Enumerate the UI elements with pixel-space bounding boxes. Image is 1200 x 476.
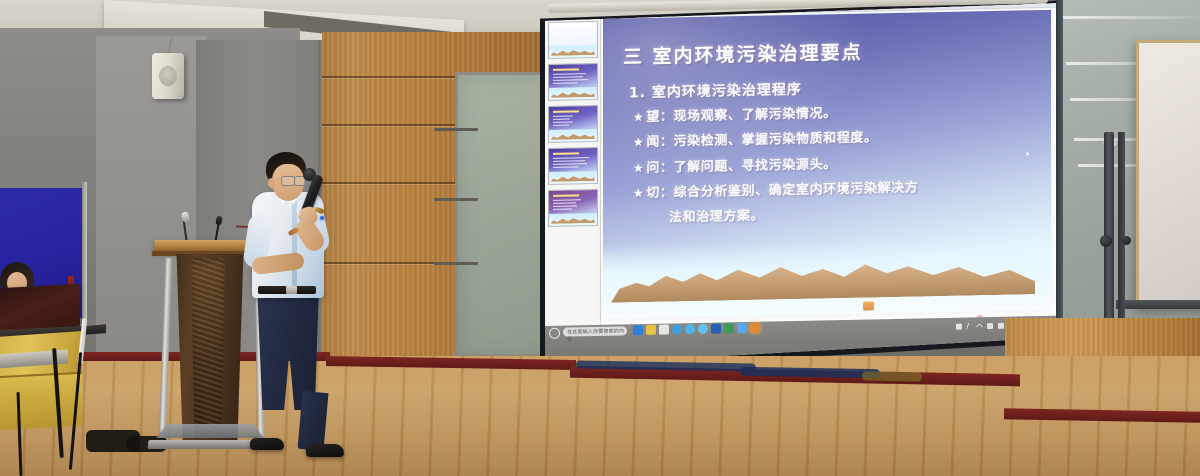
speaker-cone-icon (159, 66, 177, 86)
taskbar-icon-word[interactable] (711, 323, 721, 333)
slide-bullet-list: ★ 望： 现场观察、了解污染情况。 ★ 闻： 污染检测、掌握污染物质和程度。 ★… (633, 102, 1045, 237)
taskbar-icon-excel[interactable] (724, 323, 734, 333)
active-slide[interactable]: 三 室内环境污染治理要点 1. 室内环境污染治理程序 ★ 望： 现场观察、了解污… (603, 10, 1051, 319)
bullet-text: 污染检测、掌握污染物质和程度。 (674, 131, 878, 151)
slide-bullet: ★ 问： 了解问题、寻找污染源头。 (633, 152, 1045, 177)
taskbar-icon-mail[interactable] (672, 324, 682, 334)
banner-support-pole (82, 182, 87, 332)
slide-thumbnail-4[interactable] (548, 147, 598, 185)
slide-status-marker (863, 301, 874, 310)
thumbnail-mountain-art (549, 45, 597, 58)
taskbar-search-input[interactable]: 在这里输入你要搜索的内容 (563, 326, 627, 336)
podium-panel-texture (188, 258, 228, 438)
slide-bullet: ★ 闻： 污染检测、掌握污染物质和程度。 (633, 127, 1045, 152)
presenter-belt-buckle (286, 286, 297, 294)
tray-icon-action-center[interactable] (956, 324, 962, 330)
desk-front-panel (0, 372, 82, 431)
bullet-text: 综合分析鉴别、确定室内环境污染解决方 (674, 180, 919, 201)
whiteboard-height-knob[interactable] (1100, 235, 1112, 247)
bullet-text: 现场观察、了解污染情况。 (674, 106, 837, 126)
taskbar-icon-explorer[interactable] (646, 325, 656, 335)
presenter-left-shoe (250, 438, 284, 450)
thumbnail-text-lines (553, 194, 593, 212)
slide-thumbnail-2[interactable] (548, 63, 598, 101)
tray-icon-chevron-up[interactable] (976, 323, 983, 330)
taskbar-icon-browser[interactable] (685, 324, 695, 334)
chalkboard-clip-2 (434, 198, 478, 201)
floor-cable-bundle (862, 371, 922, 381)
slide-thumbnail-3[interactable] (548, 105, 598, 143)
search-placeholder-text: 在这里输入你要搜索的内容 (567, 327, 627, 342)
presenter-eyeglass-left (281, 176, 295, 186)
slide-bullet-continuation: 法和治理方案。 (633, 203, 1045, 228)
ceiling-speaker (152, 53, 184, 99)
taskbar-icon-store[interactable] (659, 325, 669, 335)
lecture-hall-photo: 三 室内环境污染治理要点 1. 室内环境污染治理程序 ★ 望： 现场观察、了解污… (0, 0, 1200, 476)
powerpoint-window[interactable]: 三 室内环境污染治理要点 1. 室内环境污染治理程序 ★ 望： 现场观察、了解污… (545, 2, 1059, 326)
bullet-key: 切： (646, 185, 673, 202)
thumbnail-text-lines (553, 110, 593, 128)
thumbnail-mountain-art (549, 171, 597, 184)
mobile-whiteboard[interactable] (1136, 40, 1200, 309)
thumbnail-mountain-art (549, 129, 597, 142)
bullet-key: 闻： (646, 135, 673, 152)
taskbar-icon-player[interactable] (698, 324, 708, 334)
presenter-right-shoe (306, 444, 344, 457)
podium-front-panel (188, 258, 228, 438)
taskbar-icon-chat[interactable] (737, 323, 747, 333)
taskbar-icon-row[interactable] (633, 323, 760, 336)
slide-thumbnail-1[interactable] (548, 21, 598, 59)
thumbnail-text-lines (553, 152, 593, 170)
whiteboard-lock-knob[interactable] (1122, 236, 1131, 245)
thumbnail-mountain-art (549, 87, 597, 100)
star-icon: ★ (633, 110, 644, 125)
thumbnail-text-lines (553, 68, 593, 86)
slide-thumbnail-pane[interactable] (545, 16, 601, 326)
taskbar-icon-edge[interactable] (633, 325, 643, 335)
microphone-power-led (320, 216, 324, 220)
star-icon: ★ (633, 186, 644, 201)
whiteboard-marker-tray (1116, 300, 1200, 309)
presenter-right-leg (298, 391, 329, 451)
slide-thumbnail-5[interactable] (548, 189, 598, 227)
projection-screen[interactable]: 三 室内环境污染治理要点 1. 室内环境污染治理程序 ★ 望： 现场观察、了解污… (545, 2, 1059, 368)
podium-base-riser (156, 424, 264, 438)
star-icon: ★ (633, 161, 644, 176)
bullet-text-continued: 法和治理方案。 (669, 209, 764, 227)
glass-reflection-1 (1060, 16, 1200, 19)
chalkboard-clip-3 (434, 262, 478, 265)
bullet-key: 问： (646, 160, 673, 177)
tray-icon-pen[interactable] (966, 322, 973, 330)
presenter-ear (268, 178, 275, 188)
tray-icon-volume[interactable] (998, 323, 1004, 329)
slide-bullet: ★ 切： 综合分析鉴别、确定室内环境污染解决方 (633, 178, 1045, 203)
star-icon: ★ (633, 135, 644, 150)
thumbnail-mountain-art (549, 213, 597, 226)
bullet-text: 了解问题、寻找污染源头。 (674, 157, 837, 177)
start-button-icon[interactable] (549, 328, 560, 339)
tray-icon-network[interactable] (987, 323, 993, 329)
chalkboard-clip-1 (434, 128, 478, 131)
glass-wall-mullion (1056, 0, 1063, 372)
taskbar-icon-powerpoint[interactable] (750, 323, 760, 333)
bullet-key: 望： (646, 109, 673, 126)
